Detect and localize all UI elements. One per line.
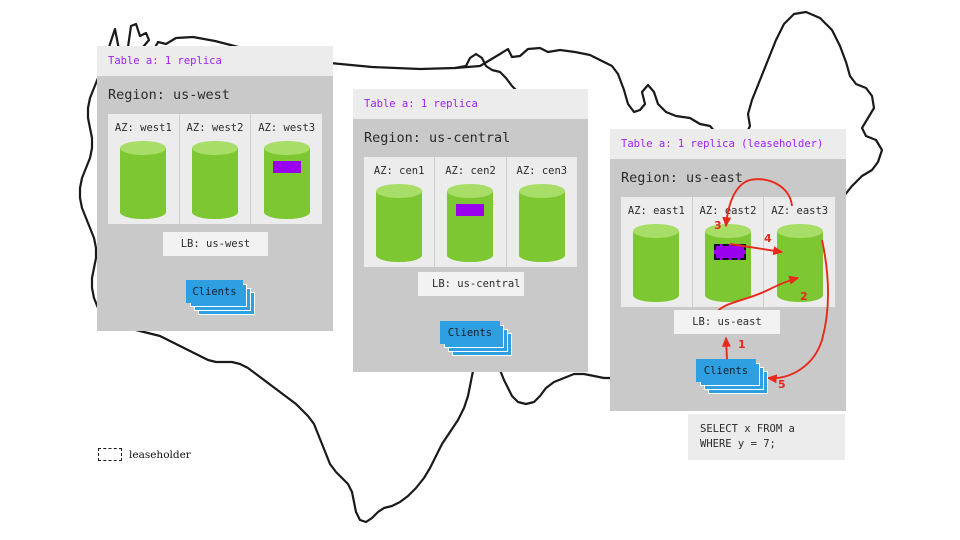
arrow-step-number-3: 3 xyxy=(714,219,722,232)
az-label: AZ: east3 xyxy=(771,205,828,217)
az-cell[interactable]: AZ: east2 xyxy=(693,197,765,307)
az-cell[interactable]: AZ: west3 xyxy=(251,114,322,224)
diagram-canvas: Table a: 1 replicaRegion: us-westAZ: wes… xyxy=(0,0,960,540)
clients-label: Clients xyxy=(192,286,236,298)
az-label: AZ: cen1 xyxy=(374,165,425,177)
clients-stack[interactable]: Clients xyxy=(440,321,512,356)
arrow-step-number-4: 4 xyxy=(764,232,772,245)
clients-button[interactable]: Clients xyxy=(696,359,756,382)
az-label: AZ: east1 xyxy=(628,205,685,217)
clients-label: Clients xyxy=(448,327,492,339)
database-cylinder xyxy=(447,184,493,262)
az-label: AZ: cen2 xyxy=(445,165,496,177)
table-replica-header: Table a: 1 replica xyxy=(353,89,588,119)
table-replica-header: Table a: 1 replica xyxy=(97,46,333,76)
arrow-step-number-1: 1 xyxy=(738,338,746,351)
load-balancer-us-east[interactable]: LB: us-east xyxy=(674,310,780,334)
database-cylinder xyxy=(633,224,679,302)
az-cell[interactable]: AZ: cen2 xyxy=(435,157,506,267)
database-cylinder xyxy=(120,141,166,219)
leaseholder-swatch-icon xyxy=(98,448,122,461)
az-label: AZ: west1 xyxy=(115,122,172,134)
replica-block xyxy=(273,161,301,173)
az-row: AZ: west1AZ: west2AZ: west3 xyxy=(108,114,322,224)
az-cell[interactable]: AZ: west2 xyxy=(180,114,252,224)
database-cylinder-leaseholder xyxy=(705,224,751,302)
load-balancer-us-west[interactable]: LB: us-west xyxy=(163,232,268,256)
az-label: AZ: east2 xyxy=(700,205,757,217)
database-cylinder xyxy=(192,141,238,219)
replica-block-leaseholder xyxy=(714,244,746,260)
table-replica-header: Table a: 1 replica (leaseholder) xyxy=(610,129,846,159)
arrow-step-number-2: 2 xyxy=(800,290,808,303)
clients-stack[interactable]: Clients xyxy=(186,280,255,315)
clients-button[interactable]: Clients xyxy=(440,321,500,344)
az-cell[interactable]: AZ: cen1 xyxy=(364,157,435,267)
clients-stack[interactable]: Clients xyxy=(696,359,768,394)
az-label: AZ: west2 xyxy=(187,122,244,134)
az-cell[interactable]: AZ: cen3 xyxy=(507,157,577,267)
region-title: Region: us-west xyxy=(97,76,333,114)
az-row: AZ: cen1AZ: cen2AZ: cen3 xyxy=(364,157,577,267)
database-cylinder xyxy=(519,184,565,262)
region-title: Region: us-central xyxy=(353,119,588,157)
az-cell[interactable]: AZ: east1 xyxy=(621,197,693,307)
legend: leaseholder xyxy=(98,448,191,461)
legend-label: leaseholder xyxy=(129,449,191,461)
clients-button[interactable]: Clients xyxy=(186,280,243,303)
sql-query-box: SELECT x FROM a WHERE y = 7; xyxy=(688,414,845,460)
clients-label: Clients xyxy=(704,365,748,377)
database-cylinder xyxy=(264,141,310,219)
az-label: AZ: cen3 xyxy=(517,165,568,177)
az-label: AZ: west3 xyxy=(258,122,315,134)
region-title: Region: us-east xyxy=(610,159,846,197)
database-cylinder xyxy=(376,184,422,262)
load-balancer-us-central[interactable]: LB: us-central xyxy=(418,272,524,296)
replica-block xyxy=(456,204,484,216)
arrow-step-number-5: 5 xyxy=(778,378,786,391)
az-cell[interactable]: AZ: west1 xyxy=(108,114,180,224)
